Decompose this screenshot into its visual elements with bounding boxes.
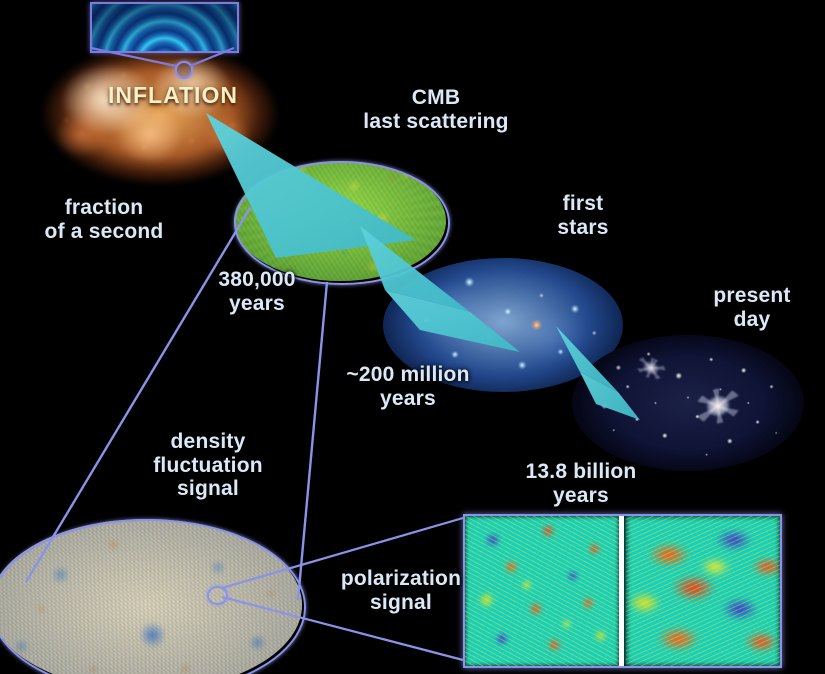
cone-inflation-to-cmb (206, 113, 416, 258)
line-inset-right-to-dot (190, 48, 234, 66)
line-cmb-to-map-left (26, 208, 250, 582)
label-polarization-signal: polarization signal (316, 567, 486, 614)
label-first-stars: first stars (528, 192, 638, 239)
cone-first-stars-to-present-tail (580, 372, 640, 420)
cosmic-history-figure: INFLATION (0, 0, 825, 674)
label-present-day: present day (692, 284, 812, 331)
label-cmb-last-scattering: CMB last scattering (336, 86, 536, 133)
label-density-fluctuation-signal: density fluctuation signal (118, 430, 298, 501)
label-fraction-of-a-second: fraction of a second (24, 196, 184, 243)
line-cmb-to-map-right (298, 282, 327, 600)
label-380000-years: 380,000 years (182, 268, 332, 315)
line-inset-left-to-dot (91, 48, 176, 66)
label-13-8-billion-years: 13.8 billion years (486, 460, 676, 507)
label-200-million-years: ~200 million years (318, 363, 498, 410)
